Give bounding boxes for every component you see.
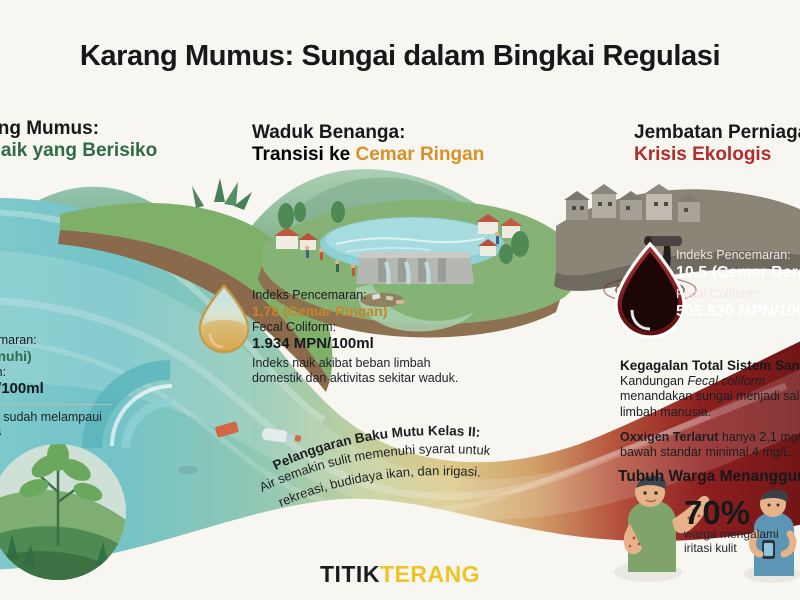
right-body-text: Kegagalan Total Sistem Sanitasi Kandunga… xyxy=(620,358,800,460)
stat-left-note: Fecal coliform sudah melampaui ambang ba… xyxy=(0,410,112,441)
section-left-subtitle-accent: Baik yang Berisiko xyxy=(0,140,157,161)
right-body-paragraph-1: Kandungan Fecal coliform menandakan sung… xyxy=(620,374,800,420)
right-body-p1-part-b: menandakan sungai menjadi saluran limbah… xyxy=(620,389,800,418)
section-right-title: Jembatan Perniagaan: xyxy=(634,122,800,144)
section-right-subtitle-accent: Krisis Ekologis xyxy=(634,144,771,165)
stat-block-right: Indeks Pencemaran: 10,5 (Cemar Berat) Fe… xyxy=(676,248,800,321)
section-left-title: Hulu Karang Mumus: xyxy=(0,118,157,140)
right-body-spacer xyxy=(620,420,800,429)
section-left-subtitle: Kualitas Baik yang Berisiko xyxy=(0,140,157,162)
section-heading-right: Jembatan Perniagaan: Krisis Ekologis xyxy=(634,122,800,167)
right-body-p1-emphasis: Fecal coliform xyxy=(687,374,765,388)
percent-value: 70% xyxy=(684,497,779,528)
section-heading-left: Hulu Karang Mumus: Kualitas Baik yang Be… xyxy=(0,118,157,163)
stat-right-value-2: 505.820 MPN/100ml xyxy=(676,302,800,321)
section-middle-subtitle-prefix: Transisi ke xyxy=(252,144,356,165)
right-body-p2-bold: Oxxigen Terlarut xyxy=(620,430,718,444)
percent-caption-line-2: iritasi kulit xyxy=(684,542,779,556)
section-heading-middle: Waduk Benanga: Transisi ke Cemar Ringan xyxy=(252,122,484,167)
stat-right-label-1: Indeks Pencemaran: xyxy=(676,248,800,263)
stat-right-value-1: 10,5 (Cemar Berat) xyxy=(676,263,800,282)
percent-stat: 70% warga mengalami iritasi kulit xyxy=(684,497,779,556)
brand-logo-part-b: TERANG xyxy=(380,561,480,587)
infographic-canvas: Pelanggaran Baku Mutu Kelas II: Air sema… xyxy=(0,0,800,600)
section-middle-subtitle: Transisi ke Cemar Ringan xyxy=(252,144,484,166)
health-impact-heading: Tubuh Warga Menanggung Beban xyxy=(618,468,800,486)
page-title: Karang Mumus: Sungai dalam Bingkai Regul… xyxy=(0,40,800,73)
stat-block-left: Indeks Pencemaran: 0,92 (Memenuhi) Fecal… xyxy=(0,333,112,441)
section-middle-subtitle-accent: Cemar Ringan xyxy=(356,144,485,165)
right-body-p1-part-a: Kandungan xyxy=(620,374,687,388)
stat-left-value-2: 2.100 MPN/100ml xyxy=(0,380,112,398)
right-body-paragraph-2: Oxxigen Terlarut hanya 2,1 mg/L, di bawa… xyxy=(620,430,800,461)
stat-middle-label-2: Fecal Coliform: xyxy=(252,320,467,335)
stat-right-label-2: Fecal Coliform: xyxy=(676,287,800,302)
brand-logo-part-a: TITIK xyxy=(320,561,380,587)
stat-middle-value-1: 1,78 (Cemar Ringan) xyxy=(252,303,467,320)
section-middle-title: Waduk Benanga: xyxy=(252,122,484,144)
section-right-subtitle: Krisis Ekologis xyxy=(634,144,800,166)
percent-caption-line-1: warga mengalami xyxy=(684,528,779,542)
stat-left-label-1: Indeks Pencemaran: xyxy=(0,333,112,348)
brand-logo: TITIKTERANG xyxy=(0,561,800,588)
stat-block-middle: Indeks Pencemaran: 1,78 (Cemar Ringan) F… xyxy=(252,288,467,387)
stat-middle-value-2: 1.934 MPN/100ml xyxy=(252,335,467,353)
stat-left-value-1: 0,92 (Memenuhi) xyxy=(0,348,112,365)
stat-middle-note: Indeks naik akibat beban limbah domestik… xyxy=(252,356,467,387)
stat-middle-label-1: Indeks Pencemaran: xyxy=(252,288,467,303)
stat-left-label-2: Fecal Coliform: xyxy=(0,365,112,380)
right-body-heading: Kegagalan Total Sistem Sanitasi xyxy=(620,358,800,373)
stat-left-divider xyxy=(0,404,112,405)
